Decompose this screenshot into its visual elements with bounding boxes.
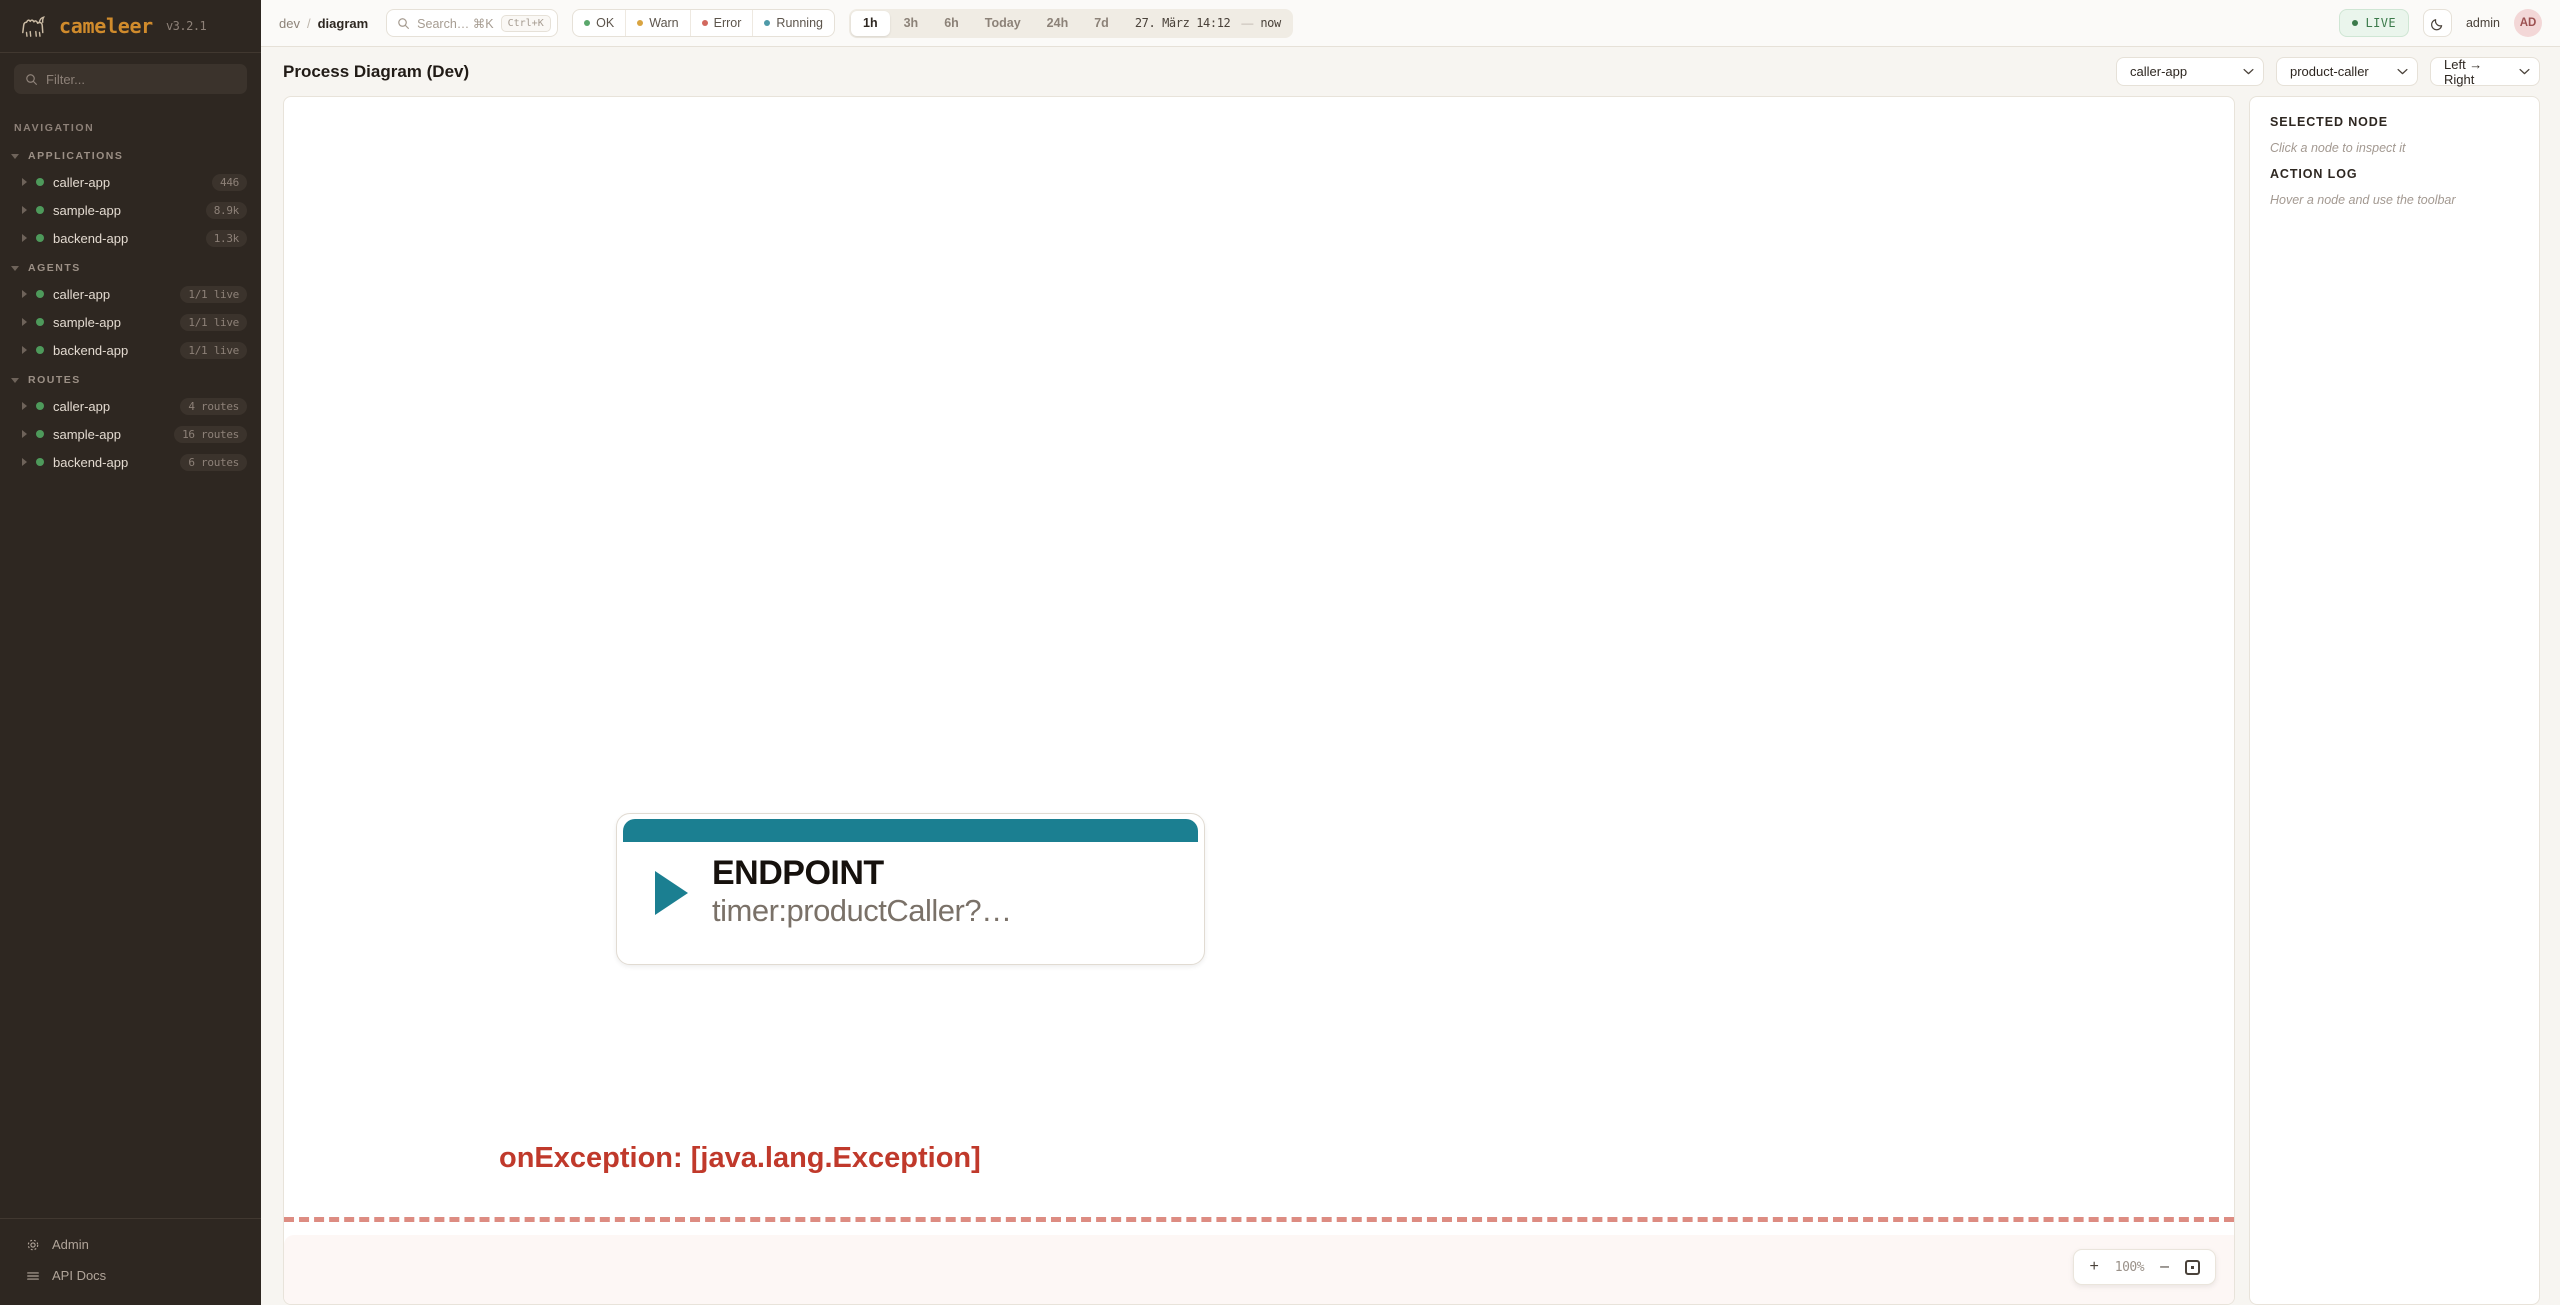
action-log-header: ACTION LOG <box>2270 167 2519 181</box>
status-filter-ok[interactable]: OK <box>573 10 626 36</box>
status-dot-icon <box>36 318 44 326</box>
page-header: Process Diagram (Dev) caller-app product… <box>261 47 2560 96</box>
zoom-out-button[interactable]: – <box>2160 1259 2169 1275</box>
breadcrumb-current: diagram <box>318 16 369 31</box>
sidebar-item-sample-app[interactable]: sample-app1/1 live <box>0 308 261 336</box>
route-select-value: product-caller <box>2290 64 2369 79</box>
breadcrumb-root[interactable]: dev <box>279 16 300 31</box>
time-from-label[interactable]: 27. März 14:12 <box>1123 16 1235 30</box>
live-dot-icon <box>2352 20 2358 26</box>
chevron-right-icon <box>22 234 27 242</box>
sidebar-item-caller-app[interactable]: caller-app1/1 live <box>0 280 261 308</box>
status-dot-icon <box>637 20 643 26</box>
sidebar-group-title: ROUTES <box>28 374 81 386</box>
status-dot-icon <box>36 290 44 298</box>
sidebar-item-label: caller-app <box>53 175 203 190</box>
time-to-label[interactable]: now <box>1260 16 1290 30</box>
sidebar-item-sample-app[interactable]: sample-app16 routes <box>0 420 261 448</box>
status-dot-icon <box>36 402 44 410</box>
node-body: ENDPOINT timer:productCaller?… <box>617 842 1204 930</box>
sidebar-group-toggle-agents[interactable]: AGENTS <box>0 256 261 280</box>
chevron-right-icon <box>22 458 27 466</box>
zoom-in-button[interactable]: + <box>2089 1259 2098 1275</box>
sidebar-item-badge: 1/1 live <box>180 314 247 331</box>
sidebar-item-backend-app[interactable]: backend-app6 routes <box>0 448 261 476</box>
sidebar-filter-box[interactable] <box>14 64 247 94</box>
sidebar-item-caller-app[interactable]: caller-app4 routes <box>0 392 261 420</box>
avatar[interactable]: AD <box>2514 9 2542 37</box>
action-log-empty-text: Hover a node and use the toolbar <box>2270 193 2519 207</box>
theme-toggle-button[interactable] <box>2423 9 2452 37</box>
sidebar-group-routes: ROUTEScaller-app4 routessample-app16 rou… <box>0 368 261 476</box>
chevron-down-icon <box>11 154 19 159</box>
node-uri: timer:productCaller?… <box>712 892 1012 931</box>
chevron-down-icon <box>2397 68 2408 75</box>
sidebar-item-label: sample-app <box>53 315 171 330</box>
chevron-right-icon <box>22 346 27 354</box>
chevron-right-icon <box>22 402 27 410</box>
sidebar-nav: NAVIGATION APPLICATIONScaller-app446samp… <box>0 108 261 1218</box>
sidebar-filter-wrap <box>0 53 261 108</box>
time-dash: — <box>1236 16 1258 30</box>
sidebar-group-title: APPLICATIONS <box>28 150 123 162</box>
sidebar-item-api-docs-label: API Docs <box>52 1268 106 1283</box>
sidebar-item-badge: 1.3k <box>206 230 247 247</box>
search-icon <box>397 17 410 30</box>
app-root: cameleer v3.2.1 NAVIGATION APPLICATIONSc… <box>0 0 2560 1305</box>
zoom-level-label: 100% <box>2115 1260 2144 1275</box>
play-icon <box>655 871 688 915</box>
node-kind: ENDPOINT <box>712 856 1012 892</box>
status-filter-label: Error <box>714 16 742 30</box>
sidebar-item-label: caller-app <box>53 399 171 414</box>
status-filter-running[interactable]: Running <box>753 10 834 36</box>
time-range-7d[interactable]: 7d <box>1082 11 1121 36</box>
live-status-badge[interactable]: LIVE <box>2339 9 2409 37</box>
fit-to-screen-icon[interactable] <box>2185 1260 2200 1275</box>
sidebar-item-label: caller-app <box>53 287 171 302</box>
moon-icon <box>2430 16 2445 31</box>
chevron-down-icon <box>2519 68 2530 75</box>
topbar: dev / diagram Search… ⌘K Ctrl+K OKWarnEr… <box>261 0 2560 47</box>
status-dot-icon <box>36 458 44 466</box>
nav-caption: NAVIGATION <box>0 114 261 144</box>
status-filter-warn[interactable]: Warn <box>626 10 690 36</box>
sidebar-group-applications: APPLICATIONScaller-app446sample-app8.9kb… <box>0 144 261 252</box>
sidebar-item-sample-app[interactable]: sample-app8.9k <box>0 196 261 224</box>
sidebar-item-label: backend-app <box>53 343 171 358</box>
sidebar-group-toggle-applications[interactable]: APPLICATIONS <box>0 144 261 168</box>
sidebar-item-label: backend-app <box>53 455 171 470</box>
user-name: admin <box>2466 16 2500 30</box>
status-dot-icon <box>584 20 590 26</box>
exception-label: onException: [java.lang.Exception] <box>499 1142 981 1175</box>
time-range-today[interactable]: Today <box>973 11 1033 36</box>
sidebar-item-badge: 8.9k <box>206 202 247 219</box>
live-label: LIVE <box>2365 16 2396 30</box>
status-dot-icon <box>36 234 44 242</box>
camel-icon <box>18 13 48 39</box>
diagram-node-endpoint[interactable]: ENDPOINT timer:productCaller?… <box>616 813 1205 965</box>
status-dot-icon <box>36 430 44 438</box>
selected-node-header: SELECTED NODE <box>2270 115 2519 129</box>
avatar-initials: AD <box>2520 17 2537 29</box>
sidebar-group-title: AGENTS <box>28 262 81 274</box>
sidebar-item-admin[interactable]: Admin <box>0 1229 261 1260</box>
sidebar-filter-input[interactable] <box>46 72 236 87</box>
sidebar-item-admin-label: Admin <box>52 1237 89 1252</box>
sidebar-item-api-docs[interactable]: API Docs <box>0 1260 261 1291</box>
sidebar-item-badge: 1/1 live <box>180 286 247 303</box>
breadcrumb-separator: / <box>307 16 311 31</box>
node-text: ENDPOINT timer:productCaller?… <box>712 856 1012 930</box>
exception-band <box>284 1235 2234 1304</box>
sidebar-group-agents: AGENTScaller-app1/1 livesample-app1/1 li… <box>0 256 261 364</box>
sidebar: cameleer v3.2.1 NAVIGATION APPLICATIONSc… <box>0 0 261 1305</box>
breadcrumb: dev / diagram <box>279 16 368 31</box>
application-select[interactable]: caller-app <box>2116 57 2264 86</box>
chevron-down-icon <box>11 266 19 271</box>
time-range-1h[interactable]: 1h <box>851 11 890 36</box>
sidebar-item-label: sample-app <box>53 203 197 218</box>
page-title: Process Diagram (Dev) <box>283 62 469 82</box>
global-search[interactable]: Search… ⌘K Ctrl+K <box>386 9 558 37</box>
sidebar-item-badge: 6 routes <box>180 454 247 471</box>
time-range-24h[interactable]: 24h <box>1035 11 1081 36</box>
status-filter-label: Running <box>776 16 823 30</box>
sidebar-item-badge: 446 <box>212 174 247 191</box>
route-select[interactable]: product-caller <box>2276 57 2418 86</box>
status-filter-label: OK <box>596 16 614 30</box>
sidebar-item-label: sample-app <box>53 427 165 442</box>
gear-icon <box>26 1238 40 1252</box>
chevron-right-icon <box>22 318 27 326</box>
status-dot-icon <box>36 346 44 354</box>
status-filter-error[interactable]: Error <box>691 10 754 36</box>
sidebar-item-label: backend-app <box>53 231 197 246</box>
time-range-3h[interactable]: 3h <box>892 11 931 36</box>
main-area: dev / diagram Search… ⌘K Ctrl+K OKWarnEr… <box>261 0 2560 1305</box>
diagram-canvas[interactable]: ENDPOINT timer:productCaller?… onExcepti… <box>283 96 2235 1305</box>
status-dot-icon <box>36 178 44 186</box>
menu-icon <box>26 1269 40 1283</box>
status-filter-group: OKWarnErrorRunning <box>572 9 835 37</box>
node-header-bar <box>623 819 1198 842</box>
time-range-group: 1h3h6hToday24h7d27. März 14:12—now <box>849 9 1293 38</box>
chevron-down-icon <box>11 378 19 383</box>
brand-header[interactable]: cameleer v3.2.1 <box>0 0 261 53</box>
sidebar-item-badge: 16 routes <box>174 426 247 443</box>
status-dot-icon <box>702 20 708 26</box>
status-dot-icon <box>764 20 770 26</box>
status-filter-label: Warn <box>649 16 678 30</box>
content-row: ENDPOINT timer:productCaller?… onExcepti… <box>261 96 2560 1305</box>
chevron-down-icon <box>2243 68 2254 75</box>
brand-version: v3.2.1 <box>166 19 206 33</box>
zoom-controls: + 100% – <box>2073 1249 2216 1285</box>
chevron-right-icon <box>22 178 27 186</box>
inspector-panel: SELECTED NODE Click a node to inspect it… <box>2249 96 2540 1305</box>
sidebar-footer: Admin API Docs <box>0 1218 261 1305</box>
time-range-6h[interactable]: 6h <box>932 11 971 36</box>
status-dot-icon <box>36 206 44 214</box>
sidebar-item-badge: 1/1 live <box>180 342 247 359</box>
exception-divider <box>284 1217 2234 1222</box>
sidebar-item-backend-app[interactable]: backend-app1.3k <box>0 224 261 252</box>
sidebar-item-caller-app[interactable]: caller-app446 <box>0 168 261 196</box>
sidebar-item-badge: 4 routes <box>180 398 247 415</box>
application-select-value: caller-app <box>2130 64 2187 79</box>
search-shortcut-kbd: Ctrl+K <box>501 15 551 32</box>
sidebar-group-toggle-routes[interactable]: ROUTES <box>0 368 261 392</box>
brand-name: cameleer <box>59 14 153 38</box>
selected-node-empty-text: Click a node to inspect it <box>2270 141 2519 155</box>
chevron-right-icon <box>22 290 27 298</box>
direction-select[interactable]: Left → Right <box>2430 57 2540 86</box>
global-search-placeholder: Search… ⌘K <box>417 16 493 31</box>
search-icon <box>25 73 38 86</box>
chevron-right-icon <box>22 430 27 438</box>
chevron-right-icon <box>22 206 27 214</box>
sidebar-item-backend-app[interactable]: backend-app1/1 live <box>0 336 261 364</box>
direction-select-value: Left → Right <box>2444 57 2509 87</box>
